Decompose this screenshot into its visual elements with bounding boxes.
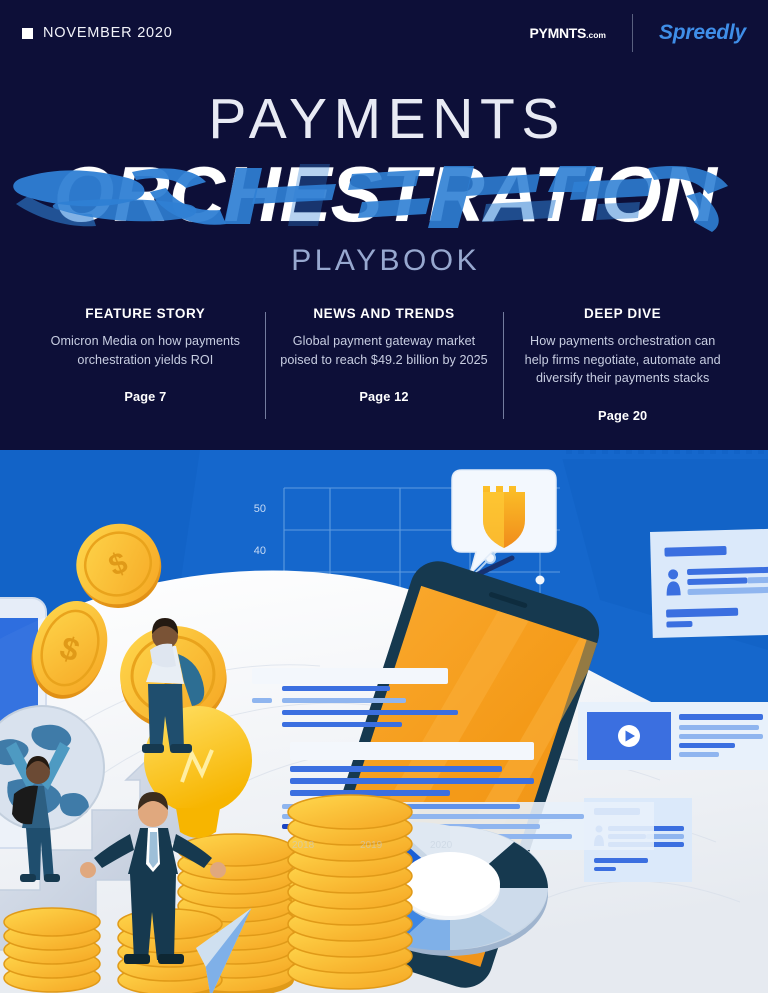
axis-tick-40: 40 bbox=[254, 545, 266, 557]
cover-header: NOVEMBER 2020 PYMNTS.com Spreedly bbox=[0, 0, 768, 66]
column-page-ref[interactable]: Page 7 bbox=[40, 389, 251, 404]
svg-text:2019: 2019 bbox=[360, 840, 383, 851]
pymnts-logo-name: PYMNTS bbox=[529, 25, 586, 41]
logo-divider bbox=[632, 14, 633, 52]
magazine-cover-page: NOVEMBER 2020 PYMNTS.com Spreedly PAYMEN… bbox=[0, 0, 768, 993]
square-bullet-icon bbox=[22, 28, 33, 39]
ui-card-video bbox=[578, 702, 768, 770]
column-page-ref[interactable]: Page 20 bbox=[517, 408, 728, 423]
column-heading: FEATURE STORY bbox=[40, 306, 251, 321]
issue-date-label: NOVEMBER 2020 bbox=[43, 25, 173, 41]
chart-marker-dot bbox=[536, 576, 545, 585]
column-deep-dive[interactable]: DEEP DIVE How payments orchestration can… bbox=[503, 306, 742, 423]
column-body: Global payment gateway market poised to … bbox=[279, 332, 490, 369]
title-line-payments: PAYMENTS bbox=[0, 92, 768, 146]
column-feature-story[interactable]: FEATURE STORY Omicron Media on how payme… bbox=[26, 306, 265, 423]
play-button-icon bbox=[618, 725, 640, 747]
svg-text:2018: 2018 bbox=[292, 840, 315, 851]
column-heading: DEEP DIVE bbox=[517, 306, 728, 321]
illustration-artwork: 50 40 30 bbox=[0, 450, 768, 993]
axis-tick-50: 50 bbox=[254, 503, 266, 515]
cover-feature-columns: FEATURE STORY Omicron Media on how payme… bbox=[0, 306, 768, 423]
ui-card-profile bbox=[650, 528, 768, 638]
column-news-and-trends[interactable]: NEWS AND TRENDS Global payment gateway m… bbox=[265, 306, 504, 423]
column-body: How payments orchestration can help firm… bbox=[517, 332, 728, 388]
column-heading: NEWS AND TRENDS bbox=[279, 306, 490, 321]
column-page-ref[interactable]: Page 12 bbox=[279, 389, 490, 404]
sawtooth-edge-decoration bbox=[380, 450, 768, 459]
svg-text:2020: 2020 bbox=[430, 840, 453, 851]
cover-illustration: 50 40 30 bbox=[0, 450, 768, 993]
spreedly-logo[interactable]: Spreedly bbox=[659, 21, 746, 45]
pymnts-logo-suffix: .com bbox=[586, 30, 606, 40]
title-line-orchestration: ORCHESTRATION bbox=[52, 155, 716, 233]
title-line-orchestration-wrap: ORCHESTRATION bbox=[0, 148, 768, 240]
title-line-playbook: PLAYBOOK bbox=[0, 244, 768, 278]
brand-logos: PYMNTS.com Spreedly bbox=[529, 13, 746, 53]
column-body: Omicron Media on how payments orchestrat… bbox=[40, 332, 251, 369]
pymnts-logo[interactable]: PYMNTS.com bbox=[529, 25, 606, 41]
issue-date-group: NOVEMBER 2020 bbox=[22, 25, 173, 41]
cover-title-block: PAYMENTS bbox=[0, 92, 768, 278]
